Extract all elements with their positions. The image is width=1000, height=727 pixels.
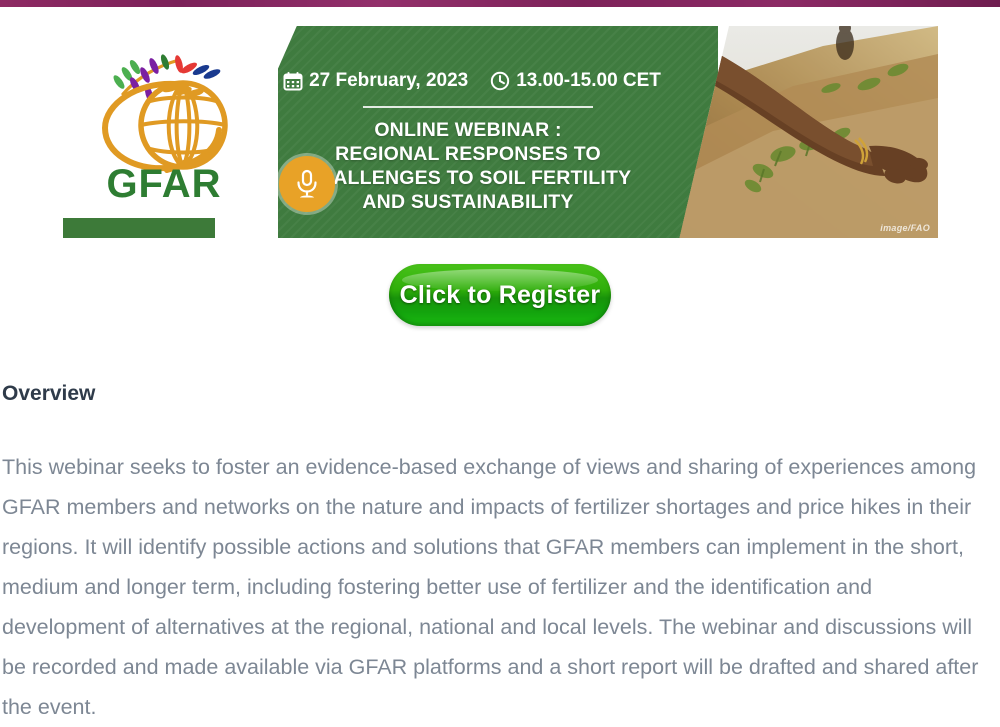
gfar-logo-icon: GFAR [79,42,249,202]
photo-credit: image/FAO [880,223,930,233]
svg-text:GFAR: GFAR [106,162,221,202]
register-button-label: Click to Register [400,281,601,309]
register-button-row: Click to Register [0,264,1000,326]
banner-date: 27 February, 2023 [283,70,468,92]
banner-datetime-row: 27 February, 2023 13.00-15.00 CET [266,70,678,92]
webinar-banner: image/FAO [63,26,938,238]
banner-date-text: 27 February, 2023 [309,70,468,92]
clock-icon [490,71,510,91]
banner-logo-panel: GFAR [63,26,278,238]
click-to-register-button[interactable]: Click to Register [389,264,611,326]
overview-body-text: This webinar seeks to foster an evidence… [2,447,990,727]
microphone-icon [292,168,322,200]
banner-time-text: 13.00-15.00 CET [516,70,661,92]
microphone-badge [279,156,335,212]
calendar-icon [283,71,303,91]
banner-divider [363,106,593,108]
gfar-logo: GFAR [79,42,249,202]
top-accent-bar [0,0,1000,7]
overview-heading: Overview [2,382,95,406]
banner-title-line-1: ONLINE WEBINAR : [258,118,678,142]
banner-green-footer-bar [63,218,215,238]
banner-time: 13.00-15.00 CET [490,70,661,92]
